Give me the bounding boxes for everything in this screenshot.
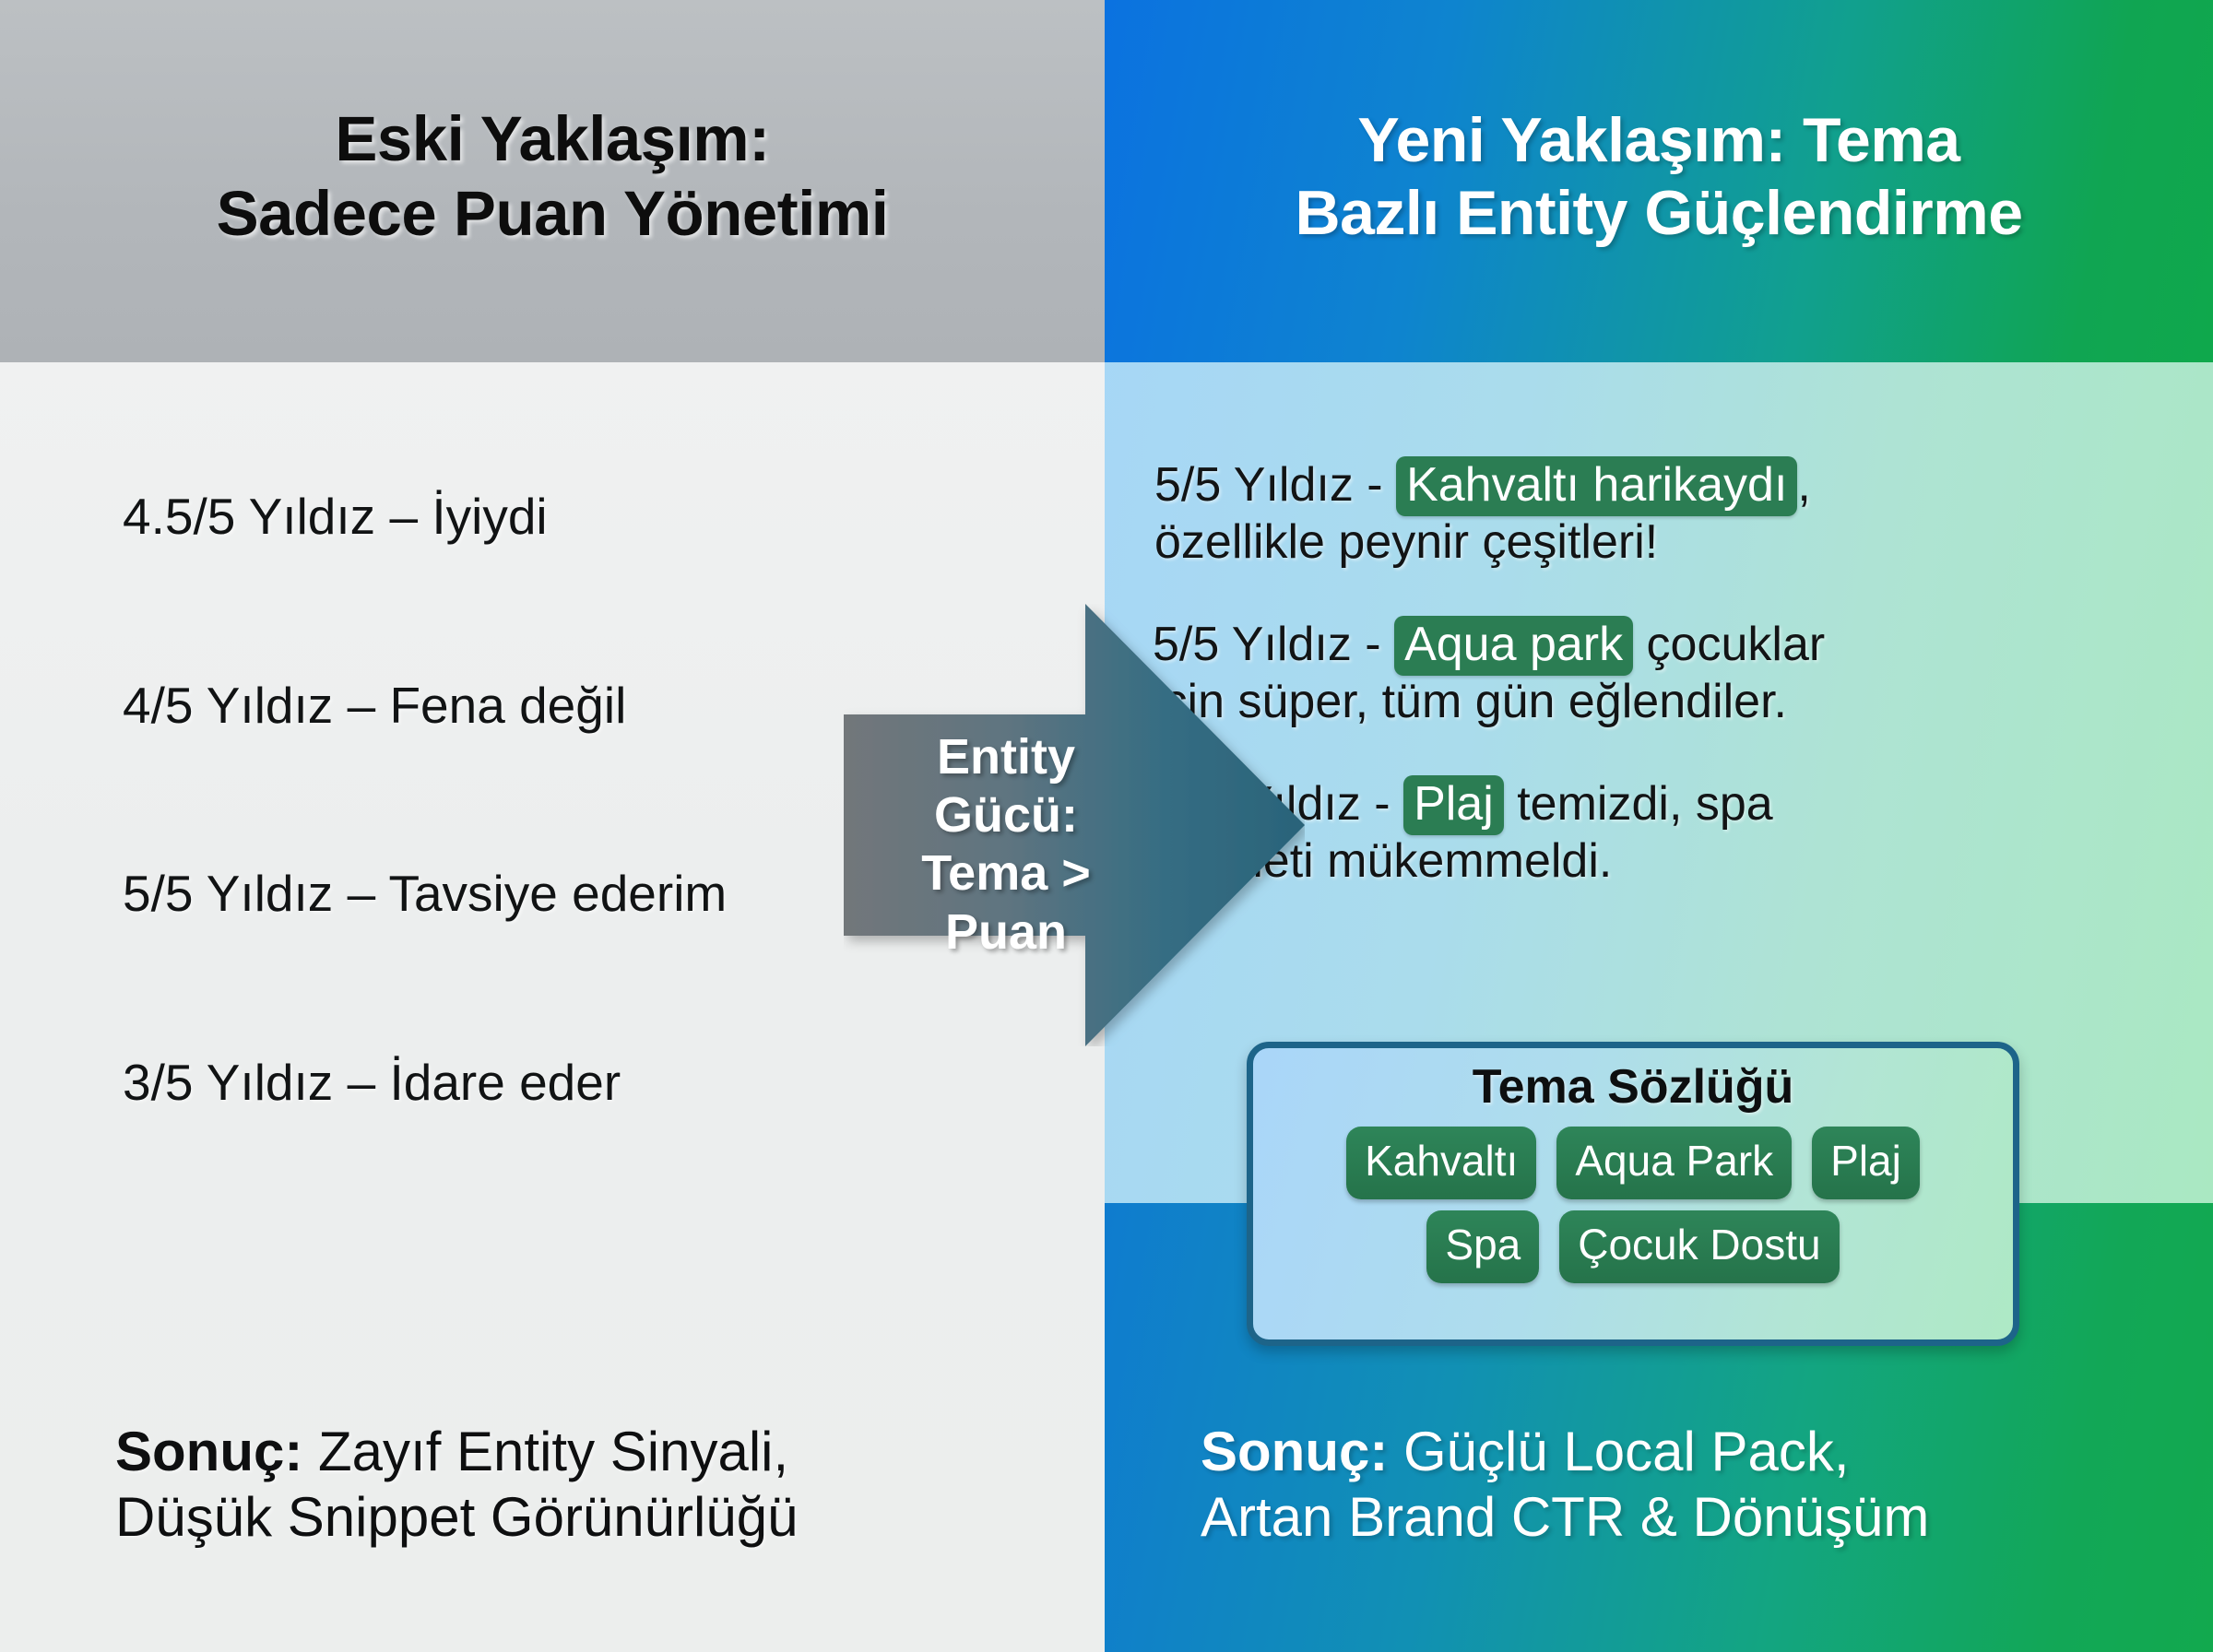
list-item: 3/5 Yıldız – İdare eder [123,1055,1045,1111]
right-conclusion: Sonuç: Güçlü Local Pack, Artan Brand CTR… [1201,1420,2178,1551]
left-panel-header: Eski Yaklaşım: Sadece Puan Yönetimi [0,0,1105,362]
review-line2: hizmeti mükemmeldi. [1162,832,2195,890]
review-line1: 5/5 Yıldız - Aqua park çocuklar [1153,616,2195,673]
left-conclusion-line2: Düşük Snippet Görünürlüğü [115,1485,1083,1551]
right-conclusion-label: Sonuç: [1201,1421,1388,1482]
theme-tag-row-1: Kahvaltı Aqua Park Plaj [1253,1127,2013,1199]
review-line1: 5/5 Yıldız - Kahvaltı harikaydı, [1154,456,2195,513]
transition-arrow: Entity Gücü: Tema > Puan [844,604,1305,1046]
theme-tag[interactable]: Kahvaltı [1346,1127,1536,1199]
entity-highlight: Kahvaltı harikaydı [1396,456,1797,516]
theme-tag[interactable]: Spa [1426,1210,1539,1283]
theme-tag[interactable]: Çocuk Dostu [1559,1210,1839,1283]
theme-tag-row-2: Spa Çocuk Dostu [1253,1210,2013,1283]
review-suffix: çocuklar [1633,618,1825,671]
right-panel-title: Yeni Yaklaşım: Tema Bazlı Entity Güçlend… [1274,104,2042,259]
left-conclusion-text1: Zayıf Entity Sinyali, [302,1421,788,1482]
right-panel-header: Yeni Yaklaşım: Tema Bazlı Entity Güçlend… [1105,0,2213,362]
left-panel-title: Eski Yaklaşım: Sadece Puan Yönetimi [217,102,889,260]
left-conclusion-label: Sonuç: [115,1421,302,1482]
left-conclusion-line1: Sonuç: Zayıf Entity Sinyali, [115,1420,1083,1485]
arrow-right-icon [844,604,1305,1046]
theme-dictionary-card: Tema Sözlüğü Kahvaltı Aqua Park Plaj Spa… [1247,1042,2019,1346]
right-conclusion-line1: Sonuç: Güçlü Local Pack, [1201,1420,2178,1485]
left-panel-title-line2: Sadece Puan Yönetimi [217,177,889,252]
review-suffix: temizdi, spa [1504,777,1773,831]
theme-dictionary-title: Tema Sözlüğü [1253,1061,2013,1114]
left-conclusion: Sonuç: Zayıf Entity Sinyali, Düşük Snipp… [115,1420,1083,1551]
right-panel-title-line1: Yeni Yaklaşım: Tema [1295,104,2022,177]
review-suffix: , [1797,458,1810,512]
review-prefix: 5/5 Yıldız - [1154,458,1396,512]
review-line2: için süper, tüm gün eğlendiler. [1153,673,2195,730]
list-item: 4.5/5 Yıldız – İyiydi [123,489,1045,545]
right-panel-title-line2: Bazlı Entity Güçlendirme [1295,177,2022,250]
infographic-canvas: Eski Yaklaşım: Sadece Puan Yönetimi 4.5/… [0,0,2213,1652]
theme-tag[interactable]: Plaj [1812,1127,1920,1199]
review-line2: özellikle peynir çeşitleri! [1154,513,2195,571]
left-panel-title-line1: Eski Yaklaşım: [217,102,889,177]
review-line1: 4/5 Yıldız - Plaj temizdi, spa [1162,775,2195,832]
theme-tag[interactable]: Aqua Park [1556,1127,1792,1199]
right-conclusion-line2: Artan Brand CTR & Dönüşüm [1201,1485,2178,1551]
entity-highlight: Aqua park [1394,616,1633,676]
right-conclusion-text1: Güçlü Local Pack, [1388,1421,1849,1482]
review-item: 5/5 Yıldız - Kahvaltı harikaydı, özellik… [1143,456,2195,572]
entity-highlight: Plaj [1403,775,1504,835]
